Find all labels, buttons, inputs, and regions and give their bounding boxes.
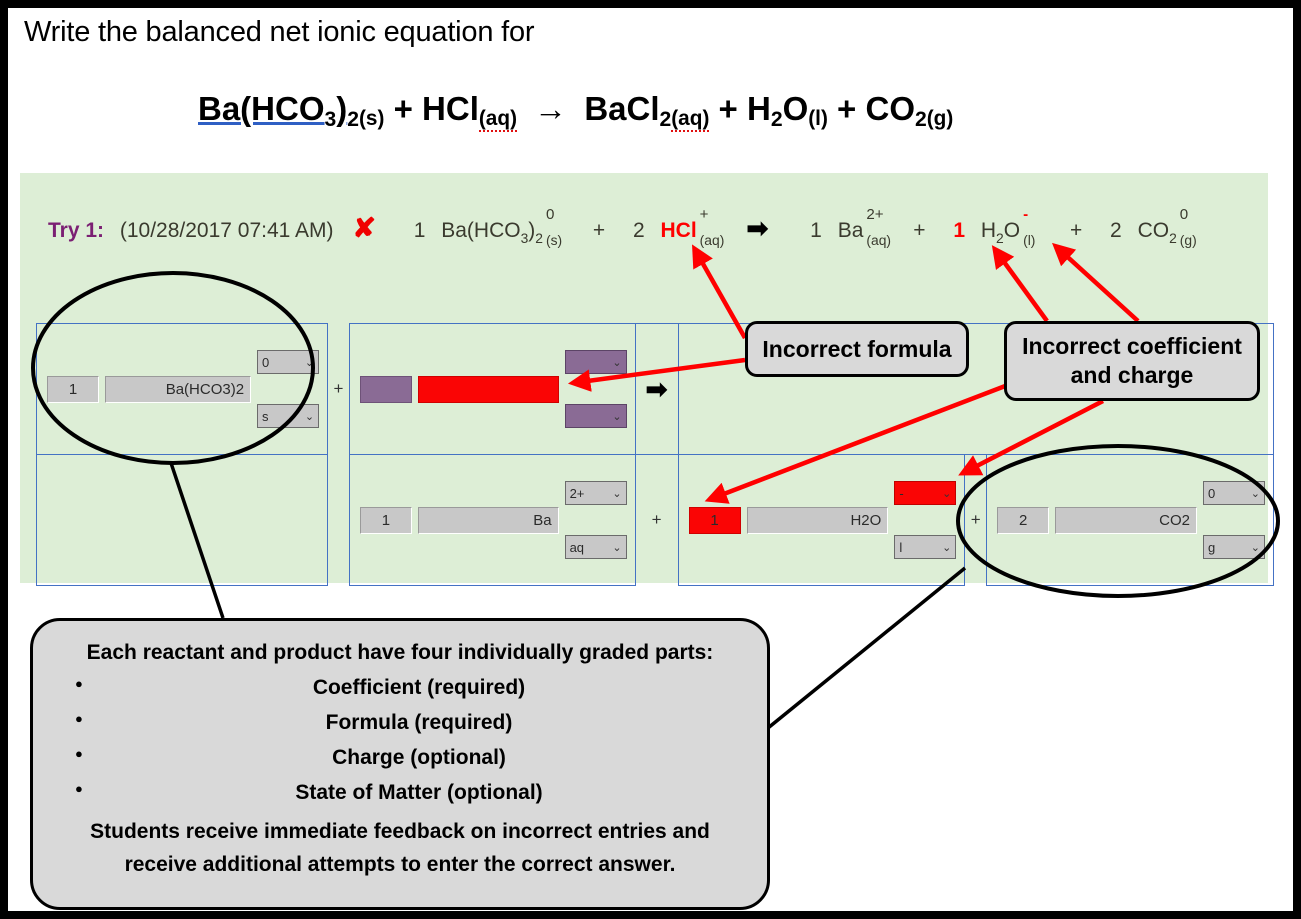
species-widget-product-2: 1 H2O -⌄ l⌄ <box>679 455 965 585</box>
state-select-product-3[interactable]: g⌄ <box>1203 535 1265 559</box>
callout-coef-line-1: Incorrect coefficient <box>1022 332 1242 361</box>
attempt-term-2-charge: + <box>697 206 709 223</box>
equation-state-1: (s) <box>359 107 384 130</box>
attempt-term-3-state: (aq) <box>863 232 891 248</box>
charge-select-product-2[interactable]: -⌄ <box>894 481 956 505</box>
attempt-term-5-state: (g) <box>1177 232 1197 248</box>
reaction-arrow-icon: → <box>526 90 575 127</box>
entry-cell-product-3[interactable]: 2 CO2 0⌄ g⌄ <box>987 455 1274 586</box>
callout-incorrect-formula: Incorrect formula <box>745 321 969 377</box>
chemical-equation: Ba(HCO3)2(s) + HCl(aq) → BaCl2(aq) + H2O… <box>198 90 953 132</box>
chevron-down-icon: ⌄ <box>305 356 314 369</box>
formula-input-reactant-1[interactable]: Ba(HCO3)2 <box>105 376 251 403</box>
reaction-arrow-icon: ➡ <box>646 374 668 405</box>
graded-parts-footer: Students receive immediate feedback on i… <box>59 816 741 881</box>
entry-plus-product-1: + <box>635 455 678 586</box>
equation-reactant-2: HCl <box>422 90 479 127</box>
select-stack-reactant-1: 0⌄ s⌄ <box>257 324 327 454</box>
attempt-term-2: HCl+(aq) <box>661 219 697 243</box>
state-select-product-2[interactable]: l⌄ <box>894 535 956 559</box>
charge-select-product-1[interactable]: 2+⌄ <box>565 481 627 505</box>
equation-state-3: (aq) <box>671 107 709 132</box>
attempt-term-1: Ba(HCO3)20(s) <box>441 219 543 246</box>
entry-cell-reactant-1[interactable]: 1 Ba(HCO3)2 0⌄ s⌄ <box>37 324 328 455</box>
attempt-term-3: Ba2+(aq) <box>838 219 864 243</box>
attempt-term-5-charge: 0 <box>1177 206 1188 223</box>
attempt-summary-row: Try 1: (10/28/2017 07:41 AM) ✘ 1 Ba(HCO3… <box>48 213 1177 246</box>
attempt-timestamp: (10/28/2017 07:41 AM) <box>120 219 334 242</box>
formula-input-reactant-2[interactable] <box>418 376 559 403</box>
graded-parts-footer-line-1: Students receive immediate feedback on i… <box>59 816 741 849</box>
chevron-down-icon: ⌄ <box>612 487 621 500</box>
callout-graded-parts: Each reactant and product have four indi… <box>30 618 770 910</box>
attempt-term-3-charge: 2+ <box>863 206 883 223</box>
entry-cell-product-1[interactable]: 1 Ba 2+⌄ aq⌄ <box>349 455 635 586</box>
species-widget-reactant-2: ⌄ ⌄ <box>350 324 635 454</box>
equation-state-4: (l) <box>808 107 828 130</box>
species-widget-product-3: 2 CO2 0⌄ g⌄ <box>987 455 1273 585</box>
equation-state-5: (g) <box>927 107 954 130</box>
species-widget-reactant-1: 1 Ba(HCO3)2 0⌄ s⌄ <box>37 324 327 454</box>
species-widget-product-1: 1 Ba 2+⌄ aq⌄ <box>350 455 635 585</box>
equation-product-1: BaCl2 <box>584 90 671 127</box>
callout-coef-line-2: and charge <box>1022 361 1242 390</box>
graded-parts-header: Each reactant and product have four indi… <box>59 641 741 665</box>
attempt-plus-2: + <box>913 219 925 242</box>
charge-select-reactant-1[interactable]: 0⌄ <box>257 350 319 374</box>
attempt-term-1-coefficient: 1 <box>414 219 426 242</box>
charge-select-product-3[interactable]: 0⌄ <box>1203 481 1265 505</box>
entry-cell-product-2[interactable]: 1 H2O -⌄ l⌄ <box>678 455 965 586</box>
chevron-down-icon: ⌄ <box>942 487 951 500</box>
callout-incorrect-coefficient: Incorrect coefficient and charge <box>1004 321 1260 401</box>
chevron-down-icon: ⌄ <box>1251 541 1260 554</box>
chevron-down-icon: ⌄ <box>612 356 621 369</box>
attempt-plus-3: + <box>1070 219 1082 242</box>
list-item: Charge (optional) <box>97 746 741 770</box>
coefficient-input-product-2[interactable]: 1 <box>689 507 741 534</box>
chevron-down-icon: ⌄ <box>1251 487 1260 500</box>
coefficient-input-reactant-2[interactable] <box>360 376 412 403</box>
attempt-term-4-coefficient: 1 <box>953 219 965 242</box>
page-title: Write the balanced net ionic equation fo… <box>24 16 534 49</box>
chevron-down-icon: ⌄ <box>942 541 951 554</box>
entry-row-products: 1 Ba 2+⌄ aq⌄ + 1 H2O -⌄ <box>37 455 1274 586</box>
entry-reaction-arrow-cell: ➡ <box>635 324 678 455</box>
attempt-reaction-arrow-icon: ➡ <box>747 213 769 244</box>
select-stack-product-1: 2+⌄ aq⌄ <box>565 455 635 585</box>
graded-parts-footer-line-2: receive additional attempts to enter the… <box>59 849 741 882</box>
attempt-label: Try 1: <box>48 219 104 242</box>
equation-product-2: H2O <box>747 90 808 127</box>
formula-input-product-1[interactable]: Ba <box>418 507 559 534</box>
attempt-term-4-charge: - <box>1020 206 1028 223</box>
attempt-term-4: H2O-(l) <box>981 219 1020 246</box>
attempt-term-1-charge: 0 <box>543 206 554 223</box>
equation-reactant-1: Ba(HCO3)2 <box>198 90 359 127</box>
equation-product-3: CO2 <box>866 90 927 127</box>
select-stack-product-2: -⌄ l⌄ <box>894 455 964 585</box>
attempt-term-5: CO20(g) <box>1138 219 1177 246</box>
entry-plus-reactants: + <box>328 324 350 455</box>
equation-plus-3: + <box>837 90 856 127</box>
attempt-term-1-state: (s) <box>543 232 562 248</box>
attempt-term-5-coefficient: 2 <box>1110 219 1122 242</box>
equation-plus-1: + <box>394 90 413 127</box>
attempt-term-2-coefficient: 2 <box>633 219 645 242</box>
state-select-product-1[interactable]: aq⌄ <box>565 535 627 559</box>
select-stack-reactant-2: ⌄ ⌄ <box>565 324 635 454</box>
state-select-reactant-1[interactable]: s⌄ <box>257 404 319 428</box>
list-item: Coefficient (required) <box>97 676 741 700</box>
attempt-term-2-state: (aq) <box>697 232 725 248</box>
entry-plus-product-2: + <box>965 455 987 586</box>
coefficient-input-reactant-1[interactable]: 1 <box>47 376 99 403</box>
charge-select-reactant-2[interactable]: ⌄ <box>565 350 627 374</box>
select-stack-product-3: 0⌄ g⌄ <box>1203 455 1273 585</box>
state-select-reactant-2[interactable]: ⌄ <box>565 404 627 428</box>
entry-cell-reactant-2[interactable]: ⌄ ⌄ <box>349 324 635 455</box>
entry-plus-blank <box>328 455 350 586</box>
formula-input-product-3[interactable]: CO2 <box>1055 507 1197 534</box>
chevron-down-icon: ⌄ <box>612 541 621 554</box>
chevron-down-icon: ⌄ <box>305 410 314 423</box>
coefficient-input-product-1[interactable]: 1 <box>360 507 412 534</box>
attempt-plus-1: + <box>593 219 605 242</box>
equation-plus-2: + <box>719 90 738 127</box>
list-item: State of Matter (optional) <box>97 781 741 805</box>
equation-state-2: (aq) <box>479 107 517 132</box>
chevron-down-icon: ⌄ <box>612 410 621 423</box>
coefficient-input-product-3[interactable]: 2 <box>997 507 1049 534</box>
attempt-term-3-coefficient: 1 <box>810 219 822 242</box>
incorrect-x-icon: ✘ <box>349 213 381 244</box>
entry-cell-blank <box>37 455 328 586</box>
formula-input-product-2[interactable]: H2O <box>747 507 889 534</box>
attempt-term-4-state: (l) <box>1020 232 1035 248</box>
list-item: Formula (required) <box>97 711 741 735</box>
leader-line-product <box>768 568 965 728</box>
graded-parts-list: Coefficient (required) Formula (required… <box>59 676 741 805</box>
slide-canvas: Write the balanced net ionic equation fo… <box>8 8 1293 911</box>
